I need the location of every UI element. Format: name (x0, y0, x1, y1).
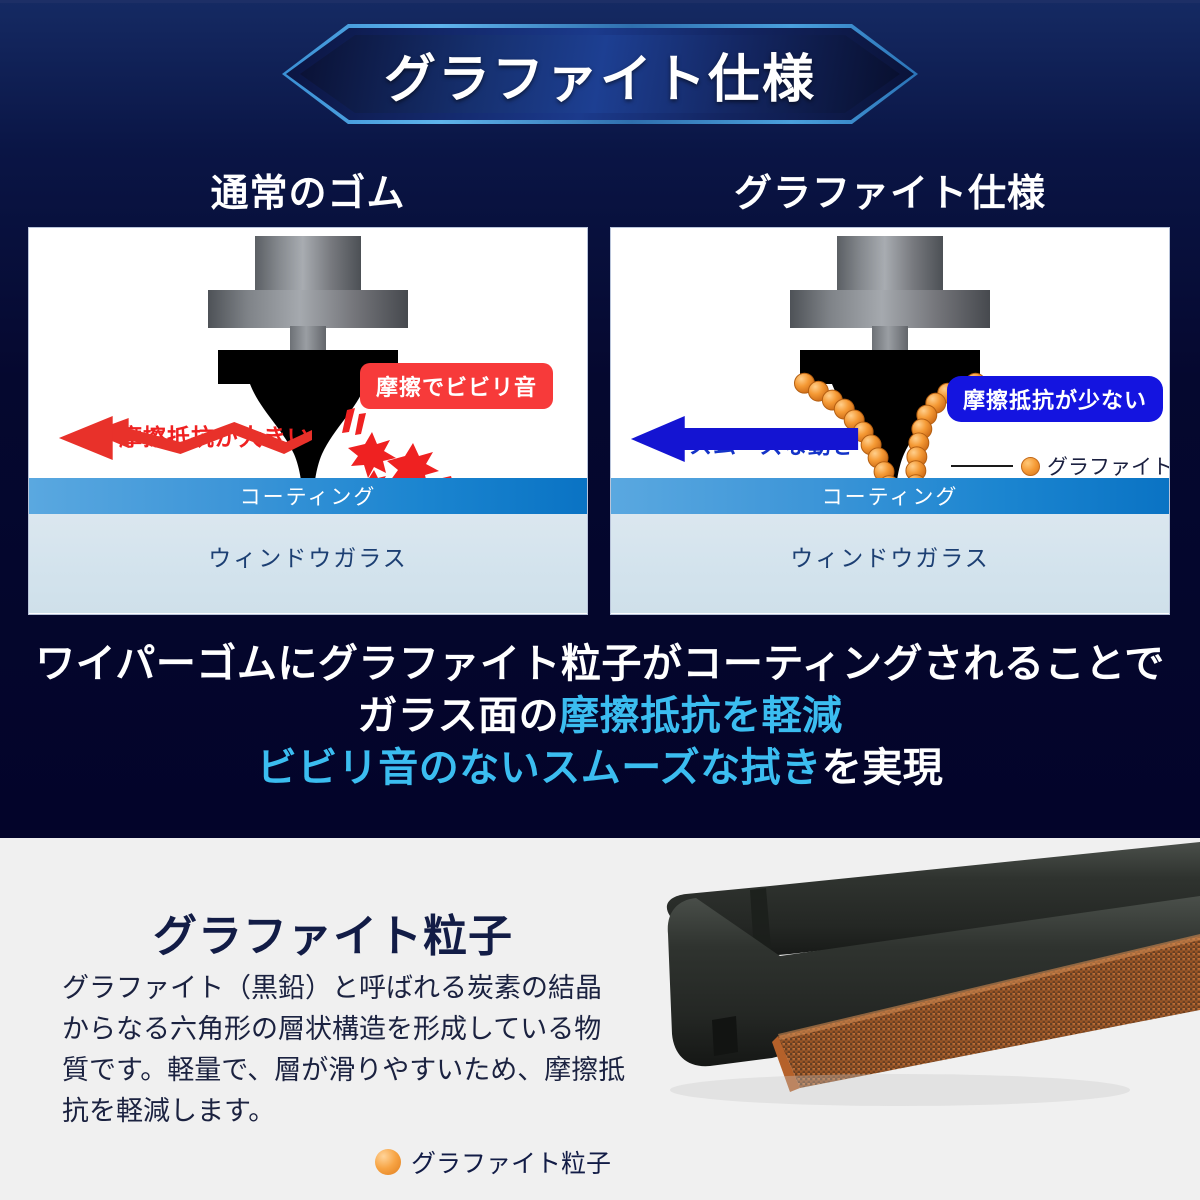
graphite-particle-icon (1021, 457, 1040, 476)
summary-line-2-white: ガラス面の (357, 694, 559, 738)
badge-low-friction: 摩擦抵抗が少ない (947, 376, 1163, 422)
infographic-page: グラファイト仕様 通常のゴム グラファイト仕様 摩擦抵抗が大きい (0, 0, 1200, 1200)
glass-layer-left: ウィンドウガラス (29, 514, 587, 613)
summary-text: ワイパーゴムにグラファイト粒子がコーティングされることで ガラス面の摩擦抵抗を軽… (0, 638, 1200, 794)
graphite-particle-callout: グラファイト粒子 (951, 451, 1170, 481)
title-banner: グラファイト仕様 (282, 24, 918, 124)
badge-friction-noise: 摩擦でビビリ音 (360, 363, 553, 409)
summary-line-3: ビビリ音のないスムーズな拭きを実現 (0, 742, 1200, 794)
banner-title: グラファイト仕様 (282, 24, 918, 124)
graphite-particle-legend-icon (375, 1149, 401, 1175)
callout-label: グラファイト粒子 (1047, 451, 1170, 481)
diagram-panel-normal-rubber: 摩擦抵抗が大きい 摩擦でビビリ音 コーティング ウィンドウ (28, 227, 588, 615)
panel-heading-right: グラファイト仕様 (610, 162, 1170, 217)
top-section: グラファイト仕様 通常のゴム グラファイト仕様 摩擦抵抗が大きい (0, 0, 1200, 838)
callout-leader-line (951, 465, 1013, 467)
photo-legend: グラファイト粒子 (375, 1144, 611, 1180)
coating-layer-left: コーティング (29, 478, 587, 514)
wiper-blade-photo (600, 838, 1200, 1200)
summary-line-3-cyan: ビビリ音のないスムーズな拭き (257, 746, 822, 790)
wiper-arm-flange (208, 290, 408, 328)
summary-line-1: ワイパーゴムにグラファイト粒子がコーティングされることで (0, 638, 1200, 690)
summary-line-2: ガラス面の摩擦抵抗を軽減 (0, 690, 1200, 742)
summary-line-2-cyan: 摩擦抵抗を軽減 (559, 694, 843, 738)
coating-label-right: コーティング (822, 481, 959, 511)
bottom-section: グラファイト粒子 グラファイト（黒鉛）と呼ばれる炭素の結晶からなる六角形の層状構… (0, 838, 1200, 1200)
coating-label-left: コーティング (240, 481, 377, 511)
bottom-description: グラファイト（黒鉛）と呼ばれる炭素の結晶からなる六角形の層状構造を形成している物… (62, 968, 627, 1132)
summary-line-1-text: ワイパーゴムにグラファイト粒子がコーティングされることで (35, 642, 1165, 686)
diagram-panel-graphite: スムーズな動き 摩擦抵抗が少ない グラファイト粒子 コーティング ウィンドウガラ… (610, 227, 1170, 615)
panel-heading-left: 通常のゴム (28, 162, 588, 217)
wiper-arm-cylinder (255, 236, 361, 292)
legend-label: グラファイト粒子 (411, 1144, 611, 1180)
glass-layer-right: ウィンドウガラス (611, 514, 1169, 613)
glass-label-left: ウィンドウガラス (208, 539, 408, 573)
glass-label-right: ウィンドウガラス (790, 539, 990, 573)
coating-layer-right: コーティング (611, 478, 1169, 514)
bottom-title: グラファイト粒子 (153, 900, 513, 964)
summary-line-3-white: を実現 (822, 746, 944, 790)
